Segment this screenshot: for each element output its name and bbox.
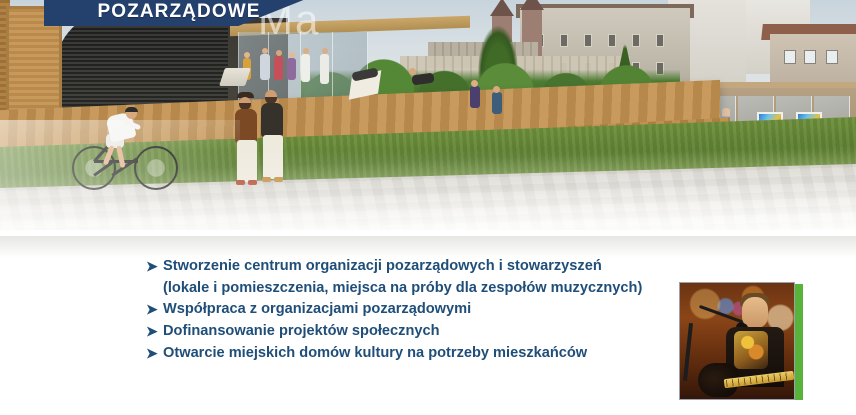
list-item: ➤ Stworzenie centrum organizacji pozarzą…: [146, 256, 676, 277]
deck-step-person: [492, 92, 502, 114]
arrow-bullet-icon: ➤: [146, 299, 163, 320]
deck-step-person-head: [493, 86, 500, 93]
deck-person-body: [287, 58, 296, 80]
list-item: ➤ Dofinansowanie projektów społecznych: [146, 321, 676, 342]
architectural-render-photo: Ma: [0, 0, 856, 230]
list-item: ➤ Współpraca z organizacjami pozarządowy…: [146, 299, 676, 320]
list-item: ➤ Otwarcie miejskich domów kultury na po…: [146, 343, 676, 364]
presentation-slide: Ma POZARZĄDOWE ➤ Stworzenie centrum orga…: [0, 0, 856, 415]
deck-step-person-head: [471, 80, 478, 87]
list-item-label: Stworzenie centrum organizacji pozarządo…: [163, 256, 676, 277]
deck-person-body: [320, 54, 329, 84]
bullet-list: ➤ Stworzenie centrum organizacji pozarzą…: [146, 256, 676, 365]
arrow-bullet-icon: ➤: [146, 343, 163, 364]
deck-sitting-person-head: [409, 68, 416, 75]
church-tower-left-cap: [490, 0, 514, 16]
list-item-label: Współpraca z organizacjami pozarządowymi: [163, 299, 676, 320]
deck-person-body: [274, 56, 283, 80]
deck-person-body: [301, 54, 310, 82]
concert-photo-block: [679, 282, 803, 400]
list-item-label: Dofinansowanie projektów społecznych: [163, 321, 676, 342]
arrow-bullet-icon: ➤: [146, 256, 163, 277]
arrow-bullet-icon: ➤: [146, 321, 163, 342]
church-tower-right-cap: [520, 0, 544, 10]
concert-photo: [679, 282, 795, 400]
deck-step-person: [470, 86, 480, 108]
list-item-label: Otwarcie miejskich domów kultury na potr…: [163, 343, 676, 364]
deck-person-body: [260, 54, 270, 80]
photo-bottom-shadow: [0, 236, 856, 258]
list-item-sublabel: (lokale i pomieszczenia, miejsca na prób…: [146, 278, 676, 299]
photo-fade-bottom: [0, 150, 856, 230]
cyclist-cap: [125, 107, 138, 112]
singer-shirt-print: [734, 331, 768, 369]
green-accent-bar: [795, 284, 803, 400]
